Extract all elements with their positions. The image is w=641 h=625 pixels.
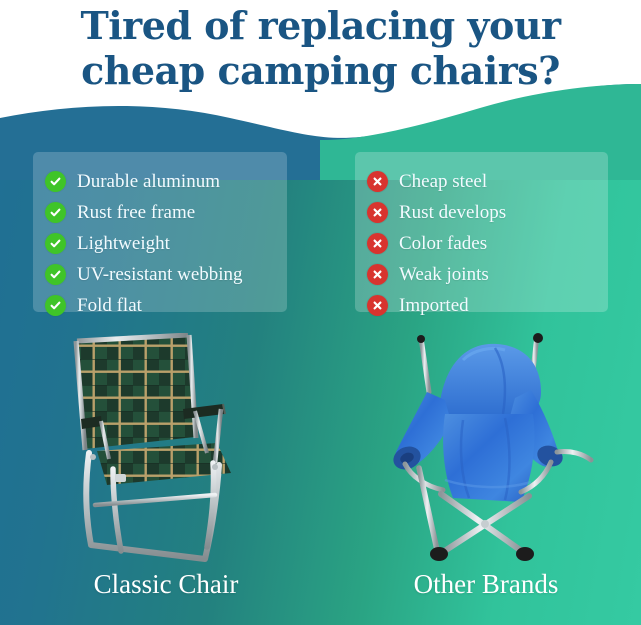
other-brands-caption: Other Brands	[336, 568, 636, 600]
check-circle-icon	[45, 171, 66, 192]
classic-chair-image	[55, 333, 295, 565]
list-item-label: Fold flat	[77, 295, 142, 316]
list-item-label: Rust develops	[399, 202, 506, 223]
cons-panel: Cheap steel Rust develops Color fades We…	[355, 152, 608, 312]
list-item: Durable aluminum	[45, 166, 277, 197]
list-item: Rust develops	[367, 197, 598, 228]
cross-circle-icon	[367, 233, 388, 254]
list-item: Lightweight	[45, 228, 277, 259]
list-item: UV-resistant webbing	[45, 259, 277, 290]
list-item-label: Imported	[399, 295, 469, 316]
cons-list: Cheap steel Rust develops Color fades We…	[367, 166, 598, 321]
check-circle-icon	[45, 295, 66, 316]
list-item-label: Durable aluminum	[77, 171, 220, 192]
pros-list: Durable aluminum Rust free frame Lightwe…	[45, 166, 277, 321]
check-circle-icon	[45, 264, 66, 285]
cross-circle-icon	[367, 171, 388, 192]
cross-circle-icon	[367, 295, 388, 316]
check-circle-icon	[45, 233, 66, 254]
list-item-label: Rust free frame	[77, 202, 195, 223]
headline-line-2: cheap camping chairs?	[0, 48, 641, 93]
list-item-label: Lightweight	[77, 233, 170, 254]
classic-chair-caption: Classic Chair	[16, 568, 316, 600]
list-item: Cheap steel	[367, 166, 598, 197]
page-title: Tired of replacing your cheap camping ch…	[0, 3, 641, 93]
list-item: Color fades	[367, 228, 598, 259]
headline-line-1: Tired of replacing your	[80, 3, 560, 48]
list-item: Weak joints	[367, 259, 598, 290]
list-item: Imported	[367, 290, 598, 321]
list-item-label: Weak joints	[399, 264, 489, 285]
list-item: Fold flat	[45, 290, 277, 321]
other-brand-chair-image	[345, 330, 600, 565]
list-item-label: UV-resistant webbing	[77, 264, 243, 285]
pros-panel: Durable aluminum Rust free frame Lightwe…	[33, 152, 287, 312]
cross-circle-icon	[367, 264, 388, 285]
list-item-label: Cheap steel	[399, 171, 487, 192]
list-item-label: Color fades	[399, 233, 487, 254]
list-item: Rust free frame	[45, 197, 277, 228]
promo-graphic: Tired of replacing your cheap camping ch…	[0, 0, 641, 625]
check-circle-icon	[45, 202, 66, 223]
cross-circle-icon	[367, 202, 388, 223]
